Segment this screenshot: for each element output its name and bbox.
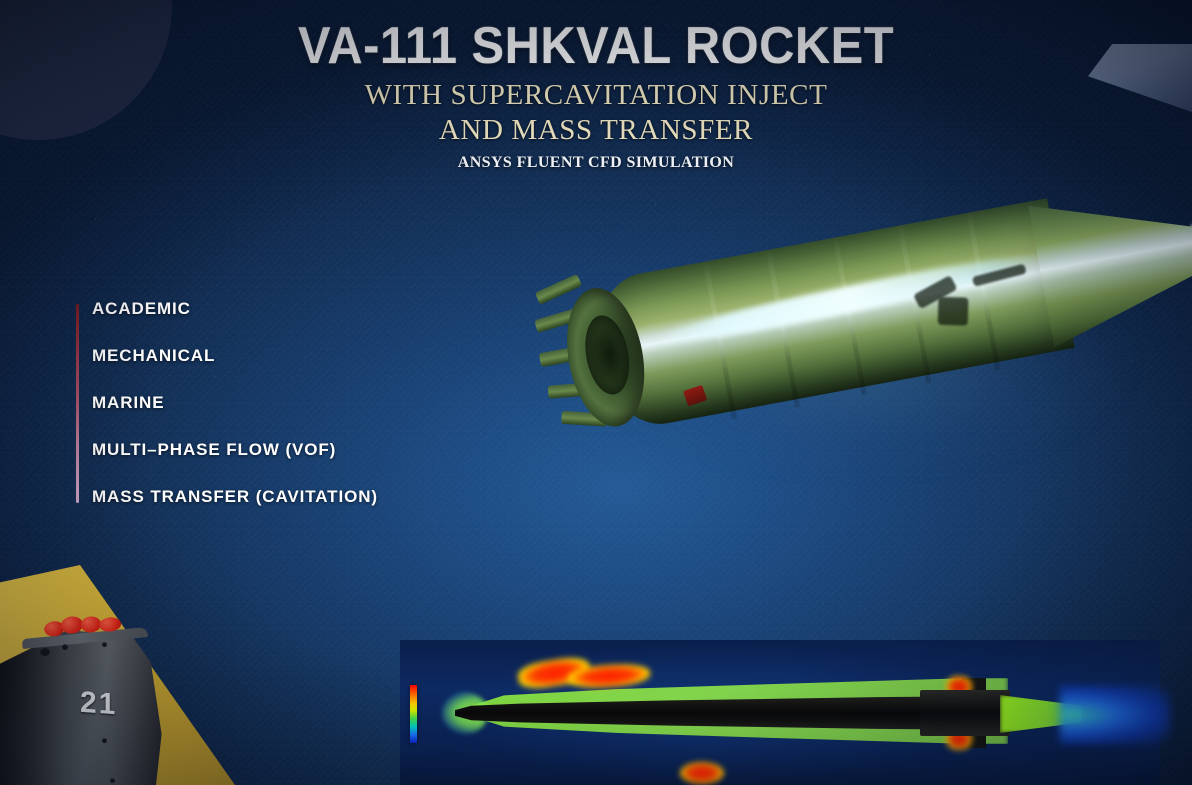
- submarine-hull-port: [62, 644, 68, 650]
- tag-item-marine: MARINE: [92, 394, 378, 411]
- tag-list-accent-rule: [76, 304, 79, 503]
- submarine-hull-number: 21: [80, 686, 117, 723]
- tag-item-multiphase-flow: MULTI–PHASE FLOW (VOF): [92, 441, 378, 458]
- topic-tag-list: ACADEMIC MECHANICAL MARINE MULTI–PHASE F…: [70, 300, 378, 505]
- subtitle-line-1: WITH SUPERCAVITATION INJECT: [0, 79, 1192, 112]
- page-title: VA-111 SHKVAL ROCKET: [36, 20, 1156, 73]
- cfd-lower-hotspot: [680, 762, 724, 784]
- submarine-hull-port: [110, 778, 115, 783]
- shkval-torpedo-photo: [560, 170, 1180, 530]
- tag-item-mechanical: MECHANICAL: [92, 347, 378, 364]
- tag-item-mass-transfer: MASS TRANSFER (CAVITATION): [92, 488, 378, 505]
- submarine-hull-port: [40, 647, 50, 656]
- submarine-conning-tower-image: 21: [0, 593, 212, 785]
- torpedo-nose-cone: [1028, 173, 1192, 347]
- cfd-torpedo-tail-section: [920, 690, 1010, 736]
- subtitle-line-2: AND MASS TRANSFER: [0, 114, 1192, 147]
- cfd-contour-plot: [400, 640, 1160, 785]
- torpedo-surface-marking: [938, 297, 969, 326]
- tag-item-academic: ACADEMIC: [92, 300, 378, 317]
- cfd-exhaust-jet-far: [1060, 686, 1170, 744]
- cfd-colorbar-legend: [410, 685, 417, 743]
- title-block: VA-111 SHKVAL ROCKET WITH SUPERCAVITATIO…: [0, 20, 1192, 172]
- submarine-hull-port: [102, 642, 107, 647]
- presentation-slide: 21 VA-111 SHKVAL ROCKET WITH SUPERCAVITA…: [0, 0, 1192, 785]
- torpedo-tail-fin: [535, 274, 582, 305]
- submarine-hull-port: [102, 738, 107, 743]
